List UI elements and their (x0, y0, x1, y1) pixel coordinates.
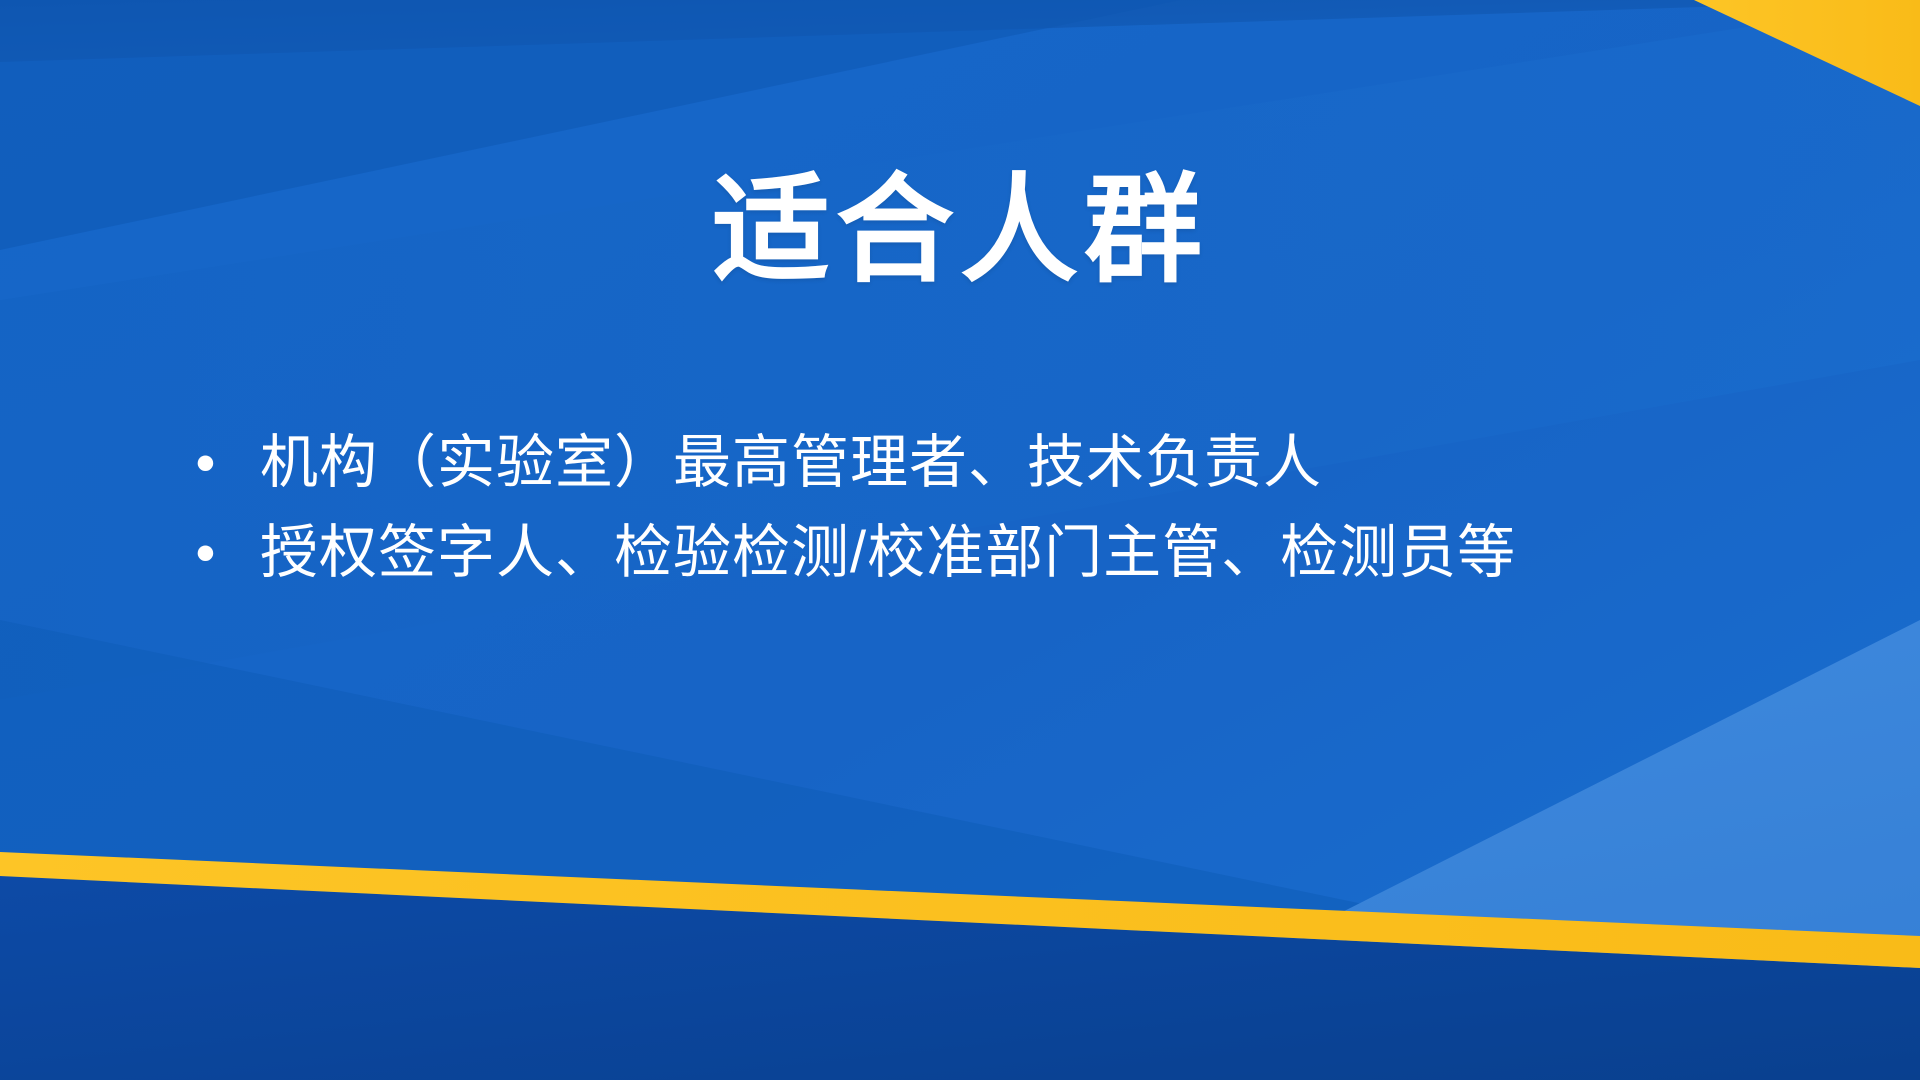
list-item: • 授权签字人、检验检测/校准部门主管、检测员等 (196, 515, 1816, 591)
slide-content: 适合人群 • 机构（实验室）最高管理者、技术负责人 • 授权签字人、检验检测/校… (0, 0, 1920, 1080)
bullet-list: • 机构（实验室）最高管理者、技术负责人 • 授权签字人、检验检测/校准部门主管… (196, 425, 1816, 605)
list-item: • 机构（实验室）最高管理者、技术负责人 (196, 425, 1816, 501)
bullet-text: 机构（实验室）最高管理者、技术负责人 (260, 425, 1816, 501)
title-container: 适合人群 (0, 86, 1920, 376)
bullet-point-icon: • (196, 515, 260, 591)
bullet-point-icon: • (196, 425, 260, 501)
bullet-text: 授权签字人、检验检测/校准部门主管、检测员等 (260, 515, 1816, 591)
page-title: 适合人群 (712, 165, 1208, 297)
slide-canvas: 适合人群 • 机构（实验室）最高管理者、技术负责人 • 授权签字人、检验检测/校… (0, 0, 1920, 1080)
